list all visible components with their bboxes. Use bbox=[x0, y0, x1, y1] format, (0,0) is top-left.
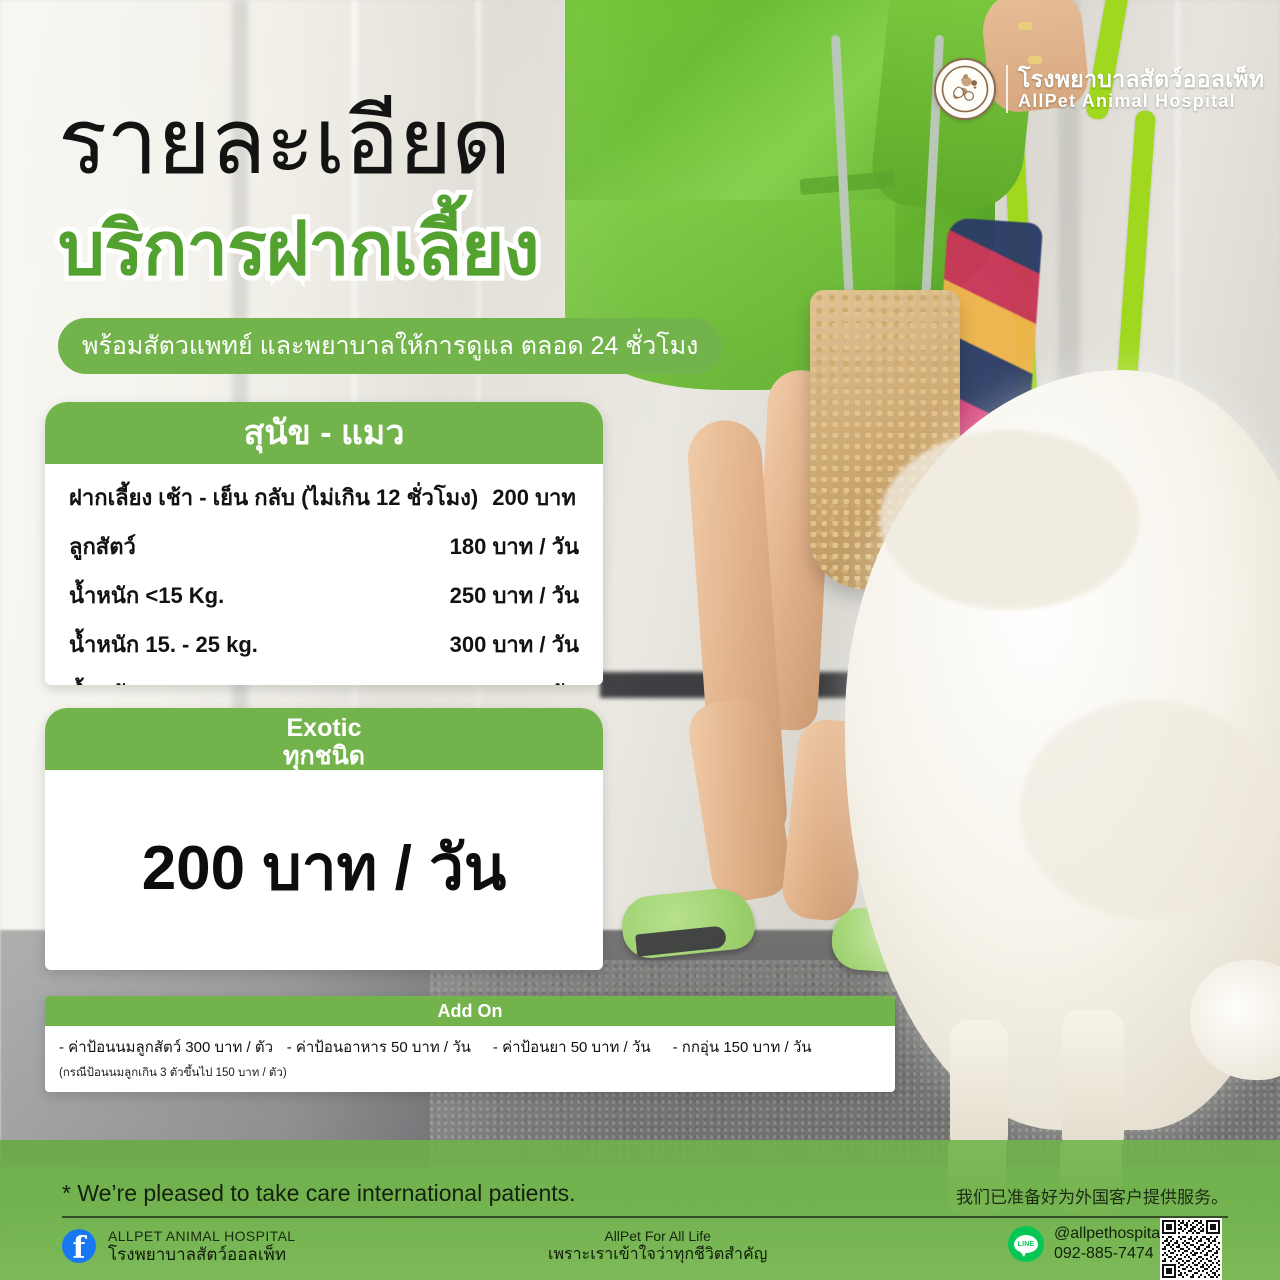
line-icon-label: LINE bbox=[1018, 1241, 1035, 1248]
pets-card-title: สุนัข - แมว bbox=[45, 402, 603, 464]
tagline-en: AllPet For All Life bbox=[548, 1228, 767, 1245]
facebook-name-th: โรงพยาบาลสัตว์ออลเพ็ท bbox=[108, 1245, 296, 1265]
exotic-card-title: Exotic ทุกชนิด bbox=[45, 708, 603, 770]
table-row: น้ำหนัก >25 Kg. 400 บาท / วัน bbox=[69, 676, 579, 685]
logo-name-th: โรงพยาบาลสัตว์ออลเพ็ท bbox=[1018, 68, 1264, 91]
page-subtitle: บริการฝากเลี้ยง bbox=[58, 212, 539, 286]
addon-item-wrapper: - ค่าป้อนนมลูกสัตว์ 300 บาท / ตัว (กรณีป… bbox=[59, 1035, 287, 1082]
line-labels: @allpethospital 092-885-7474 bbox=[1054, 1224, 1164, 1264]
tagline-th: เพราะเราเข้าใจว่าทุกชีวิตสำคัญ bbox=[548, 1245, 767, 1264]
international-patients-note-cn: 我们已准备好为外国客户提供服务。 bbox=[956, 1183, 1228, 1208]
row-label: ลูกสัตว์ bbox=[69, 529, 136, 564]
exotic-title-en: Exotic bbox=[45, 714, 603, 742]
row-label: ฝากเลี้ยง เช้า - เย็น กลับ (ไม่เกิน 12 ช… bbox=[69, 480, 478, 515]
table-row: น้ำหนัก 15. - 25 kg. 300 บาท / วัน bbox=[69, 627, 579, 662]
exotic-price-card: Exotic ทุกชนิด 200 บาท / วัน bbox=[45, 708, 603, 970]
row-label: น้ำหนัก <15 Kg. bbox=[69, 578, 224, 613]
row-price: 180 บาท / วัน bbox=[450, 529, 579, 564]
service-hours-text: พร้อมสัตวแพทย์ และพยาบาลให้การดูแล ตลอด … bbox=[82, 326, 698, 366]
row-label: น้ำหนัก 15. - 25 kg. bbox=[69, 627, 258, 662]
row-price: 400 บาท / วัน bbox=[450, 676, 579, 685]
poster-root: โรงพยาบาลสัตว์ออลเพ็ท AllPet Animal Hosp… bbox=[0, 0, 1280, 1280]
international-patients-note: * We’re pleased to take care internation… bbox=[62, 1180, 576, 1207]
facebook-name-en: ALLPET ANIMAL HOSPITAL bbox=[108, 1228, 296, 1245]
line-contact[interactable]: LINE @allpethospital 092-885-7474 bbox=[1008, 1224, 1164, 1264]
line-id: @allpethospital bbox=[1054, 1224, 1164, 1244]
line-icon[interactable]: LINE bbox=[1008, 1226, 1044, 1262]
logo-divider bbox=[1006, 65, 1008, 113]
footer-divider bbox=[62, 1216, 1228, 1218]
addon-items: - ค่าป้อนนมลูกสัตว์ 300 บาท / ตัว (กรณีป… bbox=[45, 1026, 895, 1082]
row-label: น้ำหนัก >25 Kg. bbox=[69, 676, 224, 685]
table-row: น้ำหนัก <15 Kg. 250 บาท / วัน bbox=[69, 578, 579, 613]
page-title: รายละเอียด bbox=[58, 96, 510, 188]
service-hours-badge: พร้อมสัตวแพทย์ และพยาบาลให้การดูแล ตลอด … bbox=[58, 318, 722, 374]
list-item: - ค่าป้อนอาหาร 50 บาท / วัน bbox=[287, 1035, 471, 1059]
brand-logo: โรงพยาบาลสัตว์ออลเพ็ท AllPet Animal Hosp… bbox=[934, 58, 1264, 120]
exotic-title-th: ทุกชนิด bbox=[45, 742, 603, 770]
facebook-contact[interactable]: f ALLPET ANIMAL HOSPITAL โรงพยาบาลสัตว์อ… bbox=[62, 1228, 296, 1265]
row-price: 250 บาท / วัน bbox=[450, 578, 579, 613]
row-price: 200 บาท bbox=[492, 480, 576, 515]
pets-price-card: สุนัข - แมว ฝากเลี้ยง เช้า - เย็น กลับ (… bbox=[45, 402, 603, 685]
facebook-labels: ALLPET ANIMAL HOSPITAL โรงพยาบาลสัตว์ออล… bbox=[108, 1228, 296, 1265]
list-item: - ค่าป้อนนมลูกสัตว์ 300 บาท / ตัว bbox=[59, 1035, 287, 1059]
row-price: 300 บาท / วัน bbox=[450, 627, 579, 662]
list-item: - ค่าป้อนยา 50 บาท / วัน bbox=[493, 1035, 651, 1059]
pets-price-list: ฝากเลี้ยง เช้า - เย็น กลับ (ไม่เกิน 12 ช… bbox=[45, 464, 603, 685]
list-item: - กกอุ่น 150 บาท / วัน bbox=[673, 1035, 812, 1059]
logo-name-en: AllPet Animal Hospital bbox=[1018, 92, 1264, 110]
phone-number: 092-885-7474 bbox=[1054, 1244, 1164, 1264]
addon-note: (กรณีป้อนนมลูกเกิน 3 ตัวขึ้นไป 150 บาท /… bbox=[59, 1064, 287, 1082]
logo-wordmark: โรงพยาบาลสัตว์ออลเพ็ท AllPet Animal Hosp… bbox=[1018, 68, 1264, 110]
qr-code-icon[interactable] bbox=[1160, 1218, 1222, 1280]
exotic-price-value: 200 บาท / วัน bbox=[45, 770, 603, 966]
allpet-animals-circle-logo bbox=[934, 58, 996, 120]
table-row: ลูกสัตว์ 180 บาท / วัน bbox=[69, 529, 579, 564]
table-row: ฝากเลี้ยง เช้า - เย็น กลับ (ไม่เกิน 12 ช… bbox=[69, 480, 579, 515]
addon-card: Add On - ค่าป้อนนมลูกสัตว์ 300 บาท / ตัว… bbox=[45, 996, 895, 1092]
addon-card-title: Add On bbox=[45, 996, 895, 1026]
facebook-icon[interactable]: f bbox=[62, 1229, 96, 1263]
brand-tagline: AllPet For All Life เพราะเราเข้าใจว่าทุก… bbox=[548, 1228, 767, 1264]
